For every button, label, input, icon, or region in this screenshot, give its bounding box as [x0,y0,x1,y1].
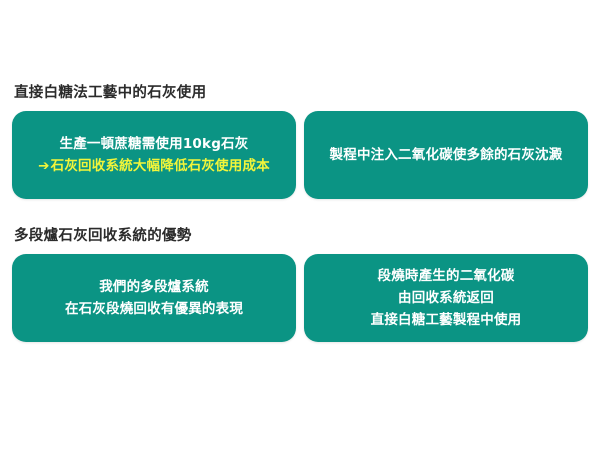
card-line: 在石灰段燒回收有優異的表現 [65,298,243,320]
card-line-text: 在石灰段燒回收有優異的表現 [65,301,243,317]
card-row-1: 生產一頓蔗糖需使用10kg石灰 ➔石灰回收系統大幅降低石灰使用成本 製程中注入二… [0,111,600,199]
card-line: 直接白糖工藝製程中使用 [371,309,522,331]
arrow-right-icon: ➔ [38,158,50,174]
card-lime-consumption[interactable]: 生產一頓蔗糖需使用10kg石灰 ➔石灰回收系統大幅降低石灰使用成本 [12,111,296,199]
section-multi-hearth-advantages: 多段爐石灰回收系統的優勢 我們的多段爐系統 在石灰段燒回收有優異的表現 段燒時產… [0,227,600,342]
card-line-text: 直接白糖工藝製程中使用 [371,312,522,328]
card-line-text: 我們的多段爐系統 [99,279,209,295]
card-line: 生產一頓蔗糖需使用10kg石灰 [60,133,249,155]
card-line-text: 段燒時產生的二氧化碳 [378,268,515,284]
section-lime-usage: 直接白糖法工藝中的石灰使用 生產一頓蔗糖需使用10kg石灰 ➔石灰回收系統大幅降… [0,84,600,199]
card-line: 由回收系統返回 [398,287,494,309]
card-co2-recycle[interactable]: 段燒時產生的二氧化碳 由回收系統返回 直接白糖工藝製程中使用 [304,254,588,342]
card-line-highlighted: ➔石灰回收系統大幅降低石灰使用成本 [38,155,270,177]
card-line: 我們的多段爐系統 [99,276,209,298]
card-row-2: 我們的多段爐系統 在石灰段燒回收有優異的表現 段燒時產生的二氧化碳 由回收系統返… [0,254,600,342]
card-system-performance[interactable]: 我們的多段爐系統 在石灰段燒回收有優異的表現 [12,254,296,342]
card-line-text: 生產一頓蔗糖需使用10kg石灰 [60,136,249,152]
card-line: 段燒時產生的二氧化碳 [378,265,515,287]
card-line-text: 石灰回收系統大幅降低石灰使用成本 [51,158,270,174]
card-line-text: 由回收系統返回 [398,290,494,306]
infographic-canvas: 直接白糖法工藝中的石灰使用 生產一頓蔗糖需使用10kg石灰 ➔石灰回收系統大幅降… [0,0,600,450]
card-co2-injection[interactable]: 製程中注入二氧化碳使多餘的石灰沈澱 [304,111,588,199]
card-line-text: 製程中注入二氧化碳使多餘的石灰沈澱 [330,147,563,163]
section-heading-2: 多段爐石灰回收系統的優勢 [14,227,600,245]
card-line: 製程中注入二氧化碳使多餘的石灰沈澱 [330,144,563,166]
section-heading-1: 直接白糖法工藝中的石灰使用 [14,84,600,102]
